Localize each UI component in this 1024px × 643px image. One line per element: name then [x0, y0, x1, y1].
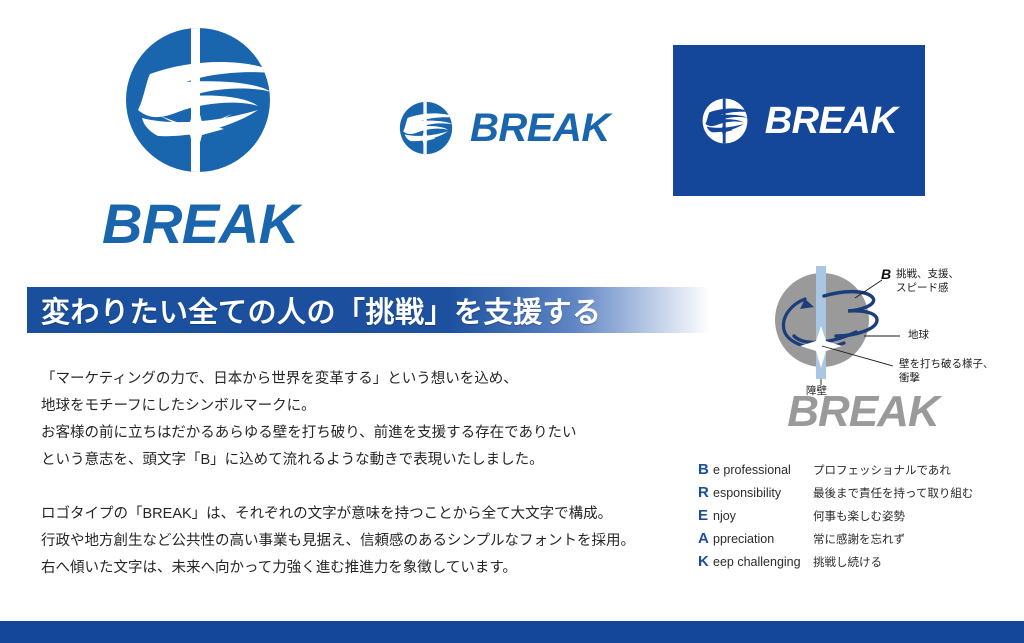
headline-text: 変わりたい全ての人の「挑戦」を支援する: [41, 289, 602, 331]
callout-star-line2: 衝撃: [899, 372, 920, 385]
acronym-letter: K: [698, 553, 713, 570]
logo-annotation-diagram: B 挑戦、支援、 スピード感 地球 壁を打ち破る様子、 衝撃 障壁 BREAK: [760, 258, 1024, 448]
callout-b-line1: 挑戦、支援、: [896, 268, 959, 281]
acronym-english: ppreciation: [713, 532, 813, 546]
copy-line: 地球をモチーフにしたシンボルマークに。: [41, 393, 681, 420]
copy-line: 右へ傾いた文字は、未来へ向かって力強く進む推進力を象徴しています。: [41, 555, 681, 582]
copy-line: ロゴタイプの「BREAK」は、それぞれの文字が意味を持つことから全て大文字で構成…: [41, 501, 681, 528]
logo-variants-row: BREAK BREAK: [0, 0, 1024, 262]
acronym-japanese: 最後まで責任を持って取り組む: [813, 485, 973, 501]
acronym-japanese: 挑戦し続ける: [813, 554, 882, 570]
acronym-list: B e professional プロフェッショナルであれ R esponsib…: [698, 461, 1018, 576]
acronym-english: e professional: [713, 463, 813, 477]
logo-reversed-wordmark: BREAK: [765, 102, 898, 140]
copy-line: お客様の前に立ちはだかるあらゆる壁を打ち破り、前進を支援する存在でありたい: [41, 420, 681, 447]
annotated-mark: [760, 258, 1024, 403]
brand-guideline-page: BREAK BREAK: [0, 0, 1024, 643]
callout-globe: 地球: [908, 329, 929, 342]
acronym-english: eep challenging: [713, 555, 813, 569]
break-globe-mark-reversed: [701, 97, 749, 145]
callout-star-line1: 壁を打ち破る様子、: [899, 358, 994, 371]
acronym-row: R esponsibility 最後まで責任を持って取り組む: [698, 484, 1018, 507]
acronym-row: K eep challenging 挑戦し続ける: [698, 553, 1018, 576]
copy-line: という意志を、頭文字「B」に込めて流れるような動きで表現いたしました。: [41, 447, 681, 474]
acronym-japanese: プロフェッショナルであれ: [813, 462, 951, 478]
break-globe-mark-primary: [108, 22, 318, 182]
callout-b-letter: B: [881, 266, 891, 282]
logo-horizontal-wordmark: BREAK: [470, 108, 610, 148]
acronym-letter: R: [698, 484, 713, 501]
callout-b-line2: スピード感: [896, 282, 949, 295]
break-globe-mark-horizontal: [398, 100, 454, 156]
acronym-english: esponsibility: [713, 486, 813, 500]
logo-primary-wordmark: BREAK: [102, 196, 318, 252]
acronym-japanese: 何事も楽しむ姿勢: [813, 508, 905, 524]
acronym-letter: E: [698, 507, 713, 524]
copy-line: 行政や地方創生など公共性の高い事業も見据え、信頼感のあるシンプルなフォントを採用…: [41, 528, 681, 555]
diagram-wordmark: BREAK: [763, 390, 963, 434]
acronym-letter: A: [698, 530, 713, 547]
logo-primary-stacked: BREAK: [108, 22, 318, 242]
acronym-letter: B: [698, 461, 713, 478]
acronym-row: A ppreciation 常に感謝を忘れず: [698, 530, 1018, 553]
acronym-japanese: 常に感謝を忘れず: [813, 531, 905, 547]
acronym-row: B e professional プロフェッショナルであれ: [698, 461, 1018, 484]
acronym-english: njoy: [713, 509, 813, 523]
body-copy: 「マーケティングの力で、日本から世界を変革する」という想いを込め、 地球をモチー…: [41, 366, 681, 582]
copy-line: 「マーケティングの力で、日本から世界を変革する」という想いを込め、: [41, 366, 681, 393]
acronym-row: E njoy 何事も楽しむ姿勢: [698, 507, 1018, 530]
footer-bar: [0, 621, 1024, 643]
logo-horizontal: BREAK: [398, 100, 610, 156]
logo-reversed-plate: BREAK: [673, 45, 925, 196]
headline-band: 変わりたい全ての人の「挑戦」を支援する: [27, 287, 710, 333]
